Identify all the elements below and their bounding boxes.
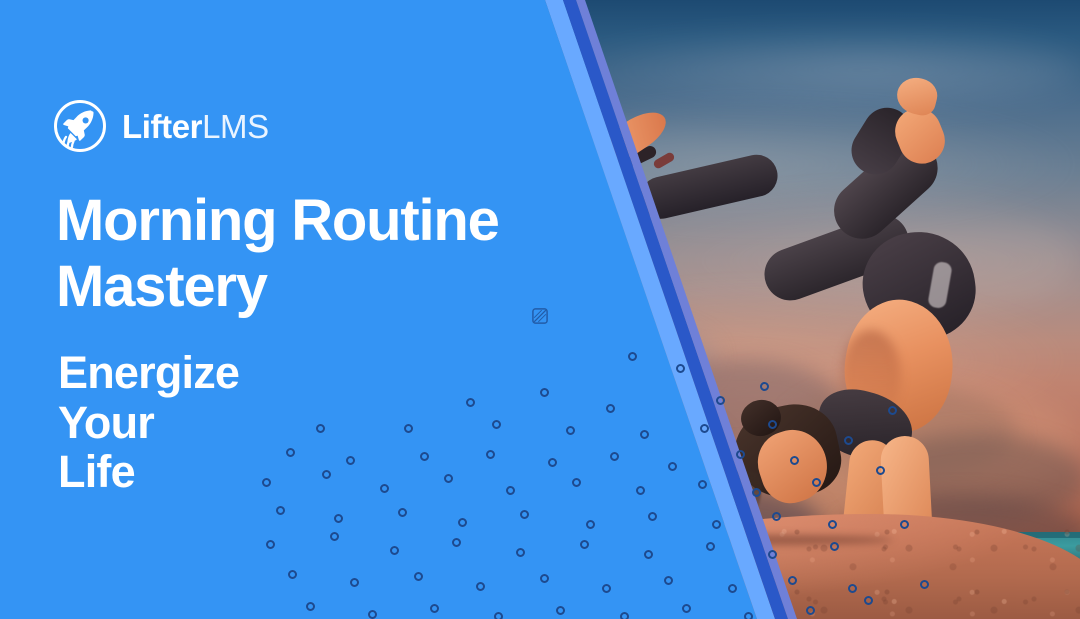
logo-wordmark: LifterLMS	[122, 110, 269, 143]
course-title: Morning Routine Mastery	[56, 188, 616, 319]
logo-name-light: LMS	[202, 108, 269, 145]
image-placeholder-icon	[530, 306, 550, 326]
course-banner: LifterLMS Morning Routine Mastery Energi…	[0, 0, 1080, 619]
course-subtitle: Energize Your Life	[58, 348, 239, 497]
lifterlms-logo[interactable]: LifterLMS	[52, 98, 269, 154]
course-title-line1: Morning Routine	[56, 188, 616, 254]
rocket-in-circle-icon	[52, 98, 108, 154]
logo-name-bold: Lifter	[122, 108, 202, 145]
